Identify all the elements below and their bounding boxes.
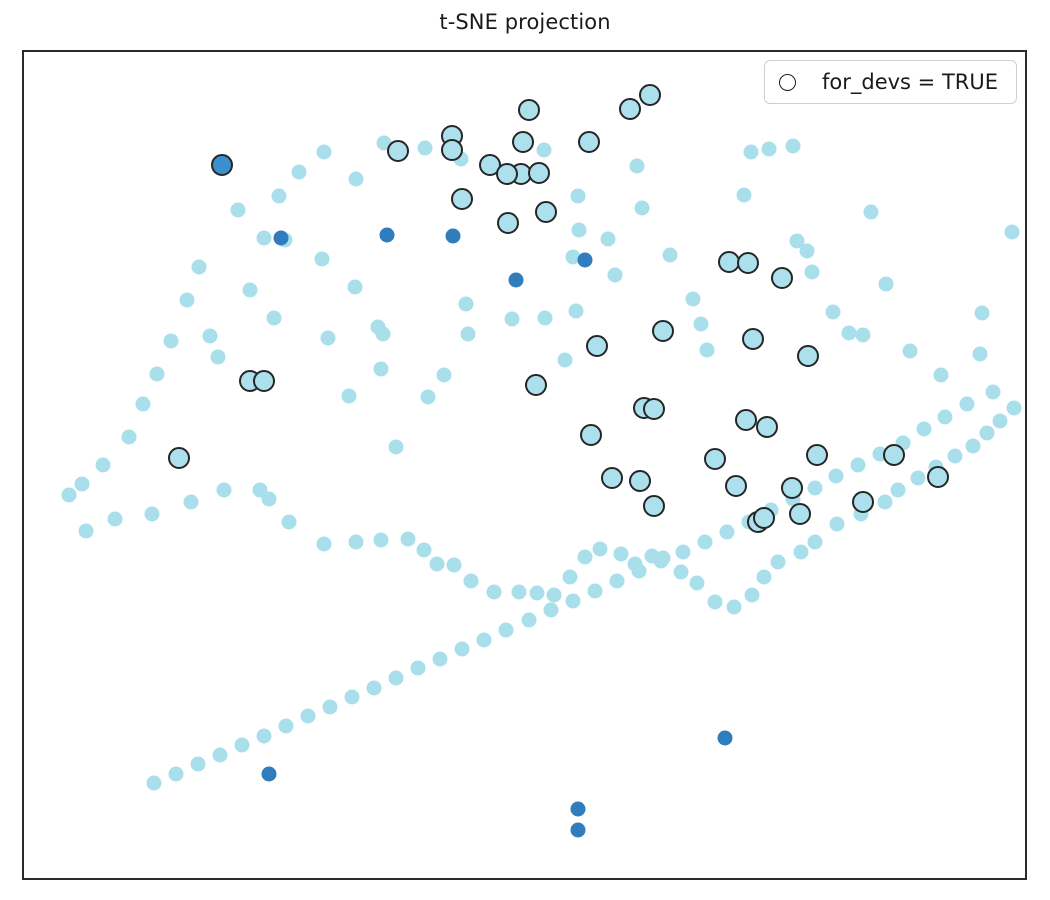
scatter-point [203,329,218,344]
scatter-point [557,353,572,368]
scatter-point [735,409,757,431]
scatter-point [433,652,448,667]
scatter-point [192,260,207,275]
scatter-point [292,165,307,180]
scatter-point [150,367,165,382]
scatter-point [272,189,287,204]
scatter-point [825,305,840,320]
scatter-point [927,466,949,488]
scatter-point [497,212,519,234]
scatter-point [629,159,644,174]
scatter-point [693,317,708,332]
scatter-point [374,362,389,377]
scatter-point [211,350,226,365]
scatter-point [446,229,461,244]
scatter-point [959,397,974,412]
scatter-point [546,588,561,603]
scatter-point [145,507,160,522]
scatter-point [421,390,436,405]
scatter-point [257,729,272,744]
scatter-point [543,603,558,618]
scatter-point [477,633,492,648]
scatter-point [528,162,550,184]
scatter-point [387,140,409,162]
scatter-point [282,515,297,530]
scatter-point [243,283,258,298]
scatter-point [380,228,395,243]
scatter-point [349,172,364,187]
scatter-point [829,517,844,532]
scatter-point [512,585,527,600]
scatter-point [841,326,856,341]
scatter-point [437,368,452,383]
scatter-point [652,320,674,342]
scatter-point [455,642,470,657]
scatter-point [79,524,94,539]
scatter-point [852,491,874,513]
scatter-point [771,267,793,289]
scatter-point [937,410,952,425]
scatter-point [570,189,585,204]
scatter-point [348,280,363,295]
scatter-point [267,311,282,326]
scatter-point [317,145,332,160]
scatter-point [743,145,758,160]
scatter-point [697,535,712,550]
scatter-point [756,416,778,438]
scatter-point [411,661,426,676]
scatter-point [1004,225,1019,240]
scatter-point [631,564,646,579]
scatter-point [707,595,722,610]
scatter-point [349,535,364,550]
scatter-point [367,681,382,696]
scatter-points-layer [24,52,1025,878]
scatter-point [737,252,759,274]
scatter-point [537,311,552,326]
scatter-point [568,304,583,319]
scatter-point [607,268,622,283]
scatter-point [902,344,917,359]
chart-title: t-SNE projection [0,10,1050,34]
scatter-point [147,776,162,791]
scatter-point [717,731,732,746]
scatter-point [634,201,649,216]
scatter-point [169,767,184,782]
scatter-point [441,139,463,161]
scatter-point [512,131,534,153]
plot-area[interactable]: for_devs = TRUE [22,50,1027,880]
scatter-point [180,293,195,308]
scatter-point [850,458,865,473]
scatter-point [673,565,688,580]
scatter-point [770,555,785,570]
scatter-point [577,253,592,268]
scatter-point [231,203,246,218]
scatter-point [461,327,476,342]
scatter-point [235,738,250,753]
scatter-point [108,512,123,527]
scatter-point [279,719,294,734]
scatter-point [191,757,206,772]
scatter-point [525,374,547,396]
chart-legend[interactable]: for_devs = TRUE [764,60,1017,104]
scatter-point [521,613,536,628]
scatter-point [122,430,137,445]
scatter-point [580,424,602,446]
scatter-point [1006,401,1021,416]
scatter-point [855,328,870,343]
legend-label-for-devs: for_devs = TRUE [822,70,998,94]
scatter-point [451,188,473,210]
scatter-point [643,398,665,420]
scatter-point [947,449,962,464]
scatter-point [164,334,179,349]
scatter-point [168,447,190,469]
scatter-point [662,248,677,263]
scatter-point [565,594,580,609]
scatter-point [274,231,289,246]
scatter-point [536,143,551,158]
scatter-point [785,139,800,154]
scatter-point [629,470,651,492]
scatter-point [213,748,228,763]
scatter-point [799,244,814,259]
scatter-point [789,503,811,525]
scatter-point [965,439,980,454]
scatter-point [639,84,661,106]
scatter-point [761,142,776,157]
scatter-point [972,347,987,362]
scatter-point [262,767,277,782]
scatter-point [726,600,741,615]
scatter-point [643,495,665,517]
scatter-point [756,570,771,585]
scatter-point [509,273,524,288]
scatter-point [342,389,357,404]
scatter-point [675,545,690,560]
scatter-point [376,327,391,342]
scatter-point [725,475,747,497]
scatter-point [804,265,819,280]
scatter-point [719,525,734,540]
scatter-point [601,467,623,489]
scatter-point [592,542,607,557]
scatter-point [315,252,330,267]
scatter-point [345,690,360,705]
scatter-point [62,488,77,503]
scatter-point [685,292,700,307]
scatter-point [781,477,803,499]
scatter-point [806,444,828,466]
scatter-point [571,223,586,238]
scatter-point [704,448,726,470]
scatter-point [211,154,233,176]
scatter-point [742,328,764,350]
scatter-point [570,802,585,817]
scatter-point [807,535,822,550]
scatter-point [430,557,445,572]
scatter-point [863,205,878,220]
scatter-point [323,700,338,715]
scatter-point [689,576,704,591]
scatter-point [262,492,277,507]
legend-marker-open-circle-icon [779,74,796,91]
scatter-point [447,558,462,573]
scatter-point [793,545,808,560]
scatter-point [529,586,544,601]
scatter-point [96,458,111,473]
scatter-point [736,188,751,203]
scatter-point [184,495,199,510]
scatter-point [992,414,1007,429]
scatter-point [979,426,994,441]
scatter-point [613,547,628,562]
scatter-point [883,444,905,466]
figure-canvas: t-SNE projection for_devs = TRUE [0,0,1050,900]
scatter-point [570,823,585,838]
scatter-point [499,623,514,638]
scatter-point [253,370,275,392]
scatter-point [374,533,389,548]
scatter-point [828,469,843,484]
scatter-point [217,483,232,498]
scatter-point [753,507,775,529]
scatter-point [417,543,432,558]
scatter-point [916,422,931,437]
scatter-point [459,297,474,312]
scatter-point [699,343,714,358]
scatter-point [136,397,151,412]
scatter-point [75,477,90,492]
scatter-point [562,570,577,585]
scatter-point [257,231,272,246]
scatter-point [401,532,416,547]
scatter-point [600,232,615,247]
scatter-point [577,550,592,565]
scatter-point [301,709,316,724]
scatter-point [518,99,540,121]
scatter-point [974,306,989,321]
scatter-point [389,440,404,455]
scatter-point [505,312,520,327]
scatter-point [418,141,433,156]
scatter-point [609,574,624,589]
scatter-point [464,574,479,589]
scatter-point [586,335,608,357]
scatter-point [985,385,1000,400]
scatter-point [587,584,602,599]
scatter-point [317,537,332,552]
scatter-point [653,554,668,569]
scatter-point [807,481,822,496]
scatter-point [877,495,892,510]
scatter-point [890,483,905,498]
scatter-point [797,345,819,367]
scatter-point [487,585,502,600]
scatter-point [910,471,925,486]
scatter-point [535,201,557,223]
scatter-point [496,163,518,185]
scatter-point [744,588,759,603]
scatter-point [933,368,948,383]
scatter-point [321,331,336,346]
scatter-point [578,131,600,153]
scatter-point [619,98,641,120]
scatter-point [389,671,404,686]
scatter-point [878,277,893,292]
